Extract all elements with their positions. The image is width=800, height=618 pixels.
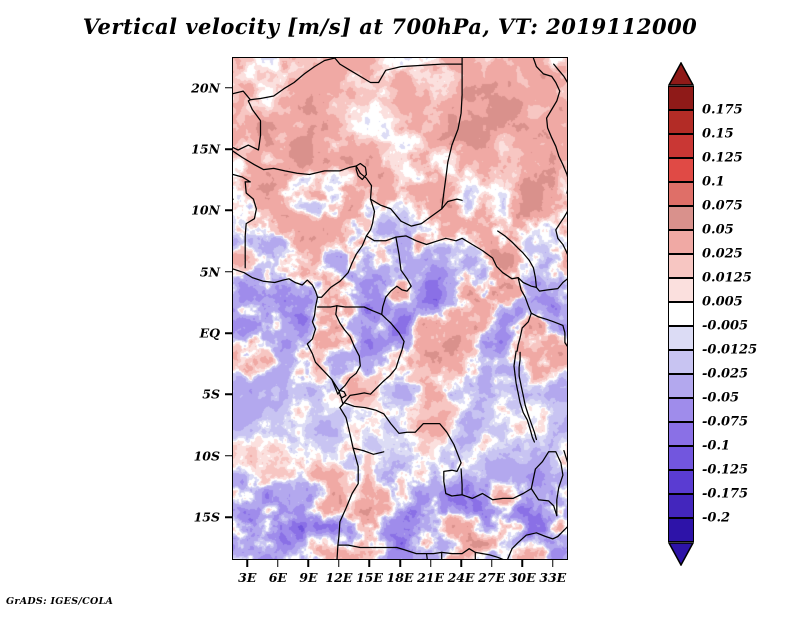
border-path bbox=[517, 278, 531, 352]
longitude-tick-label: 6E bbox=[269, 570, 287, 585]
longitude-tick-mark bbox=[338, 560, 340, 567]
map-plot-area bbox=[232, 57, 568, 560]
latitude-tick-mark bbox=[225, 332, 232, 334]
latitude-tick-label: 10S bbox=[194, 448, 220, 463]
colorbar-swatch bbox=[668, 134, 694, 158]
longitude-tick-mark bbox=[247, 560, 249, 567]
latitude-tick-label: 20N bbox=[191, 80, 220, 95]
border-path bbox=[344, 403, 462, 496]
latitude-tick-mark bbox=[225, 516, 232, 518]
latitude-tick-mark bbox=[225, 271, 232, 273]
border-path bbox=[531, 452, 563, 516]
colorbar-tick-label: -0.075 bbox=[702, 415, 748, 430]
longitude-tick-mark bbox=[491, 560, 493, 567]
border-path bbox=[498, 231, 537, 287]
border-path bbox=[442, 58, 462, 209]
longitude-tick-mark bbox=[430, 560, 432, 567]
border-path bbox=[233, 100, 261, 150]
border-path bbox=[340, 237, 411, 408]
colorbar-tick-label: 0.1 bbox=[702, 175, 725, 190]
colorbar-tick-label: 0.025 bbox=[702, 247, 743, 262]
longitude-tick-mark bbox=[369, 560, 371, 567]
border-path bbox=[233, 269, 358, 560]
latitude-tick-mark bbox=[225, 148, 232, 150]
colorbar-swatch bbox=[668, 182, 694, 206]
colorbar-swatch bbox=[668, 350, 694, 374]
latitude-tick-label: 5S bbox=[202, 387, 220, 402]
colorbar-swatch bbox=[668, 326, 694, 350]
longitude-tick-label: 24E bbox=[448, 570, 475, 585]
longitude-tick-label: 12E bbox=[325, 570, 352, 585]
colorbar-swatch bbox=[668, 86, 694, 110]
colorbar-swatch bbox=[668, 230, 694, 254]
latitude-tick-mark bbox=[225, 394, 232, 396]
border-path bbox=[335, 58, 462, 83]
border-path bbox=[514, 351, 516, 374]
colorbar-tick-label: 0.15 bbox=[702, 127, 734, 142]
border-path bbox=[356, 164, 366, 180]
border-path bbox=[564, 451, 568, 500]
longitude-tick-mark bbox=[552, 560, 554, 567]
colorbar-tick-label: 0.175 bbox=[702, 103, 743, 118]
latitude-tick-label: 15S bbox=[194, 510, 220, 525]
colorbar-tick-label: -0.175 bbox=[702, 487, 748, 502]
latitude-tick-label: 10N bbox=[191, 203, 220, 218]
border-path bbox=[233, 58, 335, 100]
latitude-tick-mark bbox=[225, 210, 232, 212]
colorbar-swatch bbox=[668, 494, 694, 518]
colorbar-swatch bbox=[668, 470, 694, 494]
colorbar-tick-label: -0.025 bbox=[702, 367, 748, 382]
longitude-tick-label: 9E bbox=[299, 570, 317, 585]
border-path bbox=[318, 306, 382, 315]
longitude-tick-label: 33E bbox=[539, 570, 566, 585]
latitude-axis: 20N15N10N5NEQ5S10S15S bbox=[0, 57, 232, 560]
colorbar-tick-label: -0.1 bbox=[702, 439, 730, 454]
footer-attribution: GrADS: IGES/COLA bbox=[6, 596, 113, 607]
longitude-tick-mark bbox=[277, 560, 279, 567]
border-path bbox=[318, 173, 375, 297]
colorbar-tick-label: -0.0125 bbox=[702, 343, 757, 358]
border-path bbox=[245, 182, 256, 268]
border-path bbox=[462, 489, 557, 516]
border-path bbox=[507, 530, 564, 560]
colorbar: 0.1750.150.1250.10.0750.050.0250.01250.0… bbox=[668, 62, 788, 562]
colorbar-swatch bbox=[668, 278, 694, 302]
border-path bbox=[536, 278, 568, 292]
colorbar-top-arrow bbox=[668, 62, 694, 86]
colorbar-swatch bbox=[668, 374, 694, 398]
border-path bbox=[531, 313, 568, 349]
colorbar-swatch bbox=[668, 110, 694, 134]
colorbar-tick-label: 0.125 bbox=[702, 151, 743, 166]
border-path bbox=[353, 448, 384, 454]
colorbar-swatch bbox=[668, 518, 694, 542]
colorbar-tick-label: -0.2 bbox=[702, 511, 730, 526]
border-path bbox=[233, 175, 250, 182]
colorbar-tick-label: 0.0125 bbox=[702, 271, 752, 286]
colorbar-tick-label: -0.125 bbox=[702, 463, 748, 478]
colorbar-swatch bbox=[668, 302, 694, 326]
colorbar-tick-label: 0.005 bbox=[702, 295, 743, 310]
border-path bbox=[332, 306, 361, 394]
colorbar-tick-label: 0.075 bbox=[702, 199, 743, 214]
longitude-tick-label: 18E bbox=[387, 570, 414, 585]
longitude-tick-mark bbox=[399, 560, 401, 567]
border-path bbox=[340, 391, 346, 398]
longitude-tick-mark bbox=[460, 560, 462, 567]
border-path bbox=[515, 375, 534, 443]
colorbar-tick-label: -0.05 bbox=[702, 391, 739, 406]
latitude-tick-mark bbox=[225, 87, 232, 89]
latitude-tick-label: 5N bbox=[200, 264, 220, 279]
colorbar-swatch bbox=[668, 446, 694, 470]
colorbar-tick-label: 0.05 bbox=[702, 223, 734, 238]
latitude-tick-mark bbox=[225, 455, 232, 457]
colorbar-swatch bbox=[668, 158, 694, 182]
latitude-tick-label: 15N bbox=[191, 142, 220, 157]
colorbar-bottom-arrow bbox=[668, 542, 694, 566]
border-path bbox=[556, 183, 568, 258]
longitude-tick-label: 15E bbox=[356, 570, 383, 585]
border-path bbox=[233, 151, 360, 174]
border-path bbox=[519, 352, 520, 375]
border-path bbox=[338, 545, 507, 560]
latitude-tick-label: EQ bbox=[200, 326, 220, 341]
longitude-axis: 3E6E9E12E15E18E21E24E27E30E33E bbox=[232, 560, 568, 600]
longitude-tick-mark bbox=[521, 560, 523, 567]
page-title: Vertical velocity [m/s] at 700hPa, VT: 2… bbox=[0, 14, 780, 39]
border-path bbox=[564, 500, 568, 531]
colorbar-tick-label: -0.005 bbox=[702, 319, 748, 334]
colorbar-swatch bbox=[668, 398, 694, 422]
colorbar-swatch bbox=[668, 254, 694, 278]
longitude-tick-label: 27E bbox=[478, 570, 505, 585]
border-path bbox=[371, 199, 463, 226]
country-borders-overlay bbox=[233, 58, 568, 560]
longitude-tick-mark bbox=[308, 560, 310, 567]
border-path bbox=[533, 58, 568, 183]
colorbar-swatch bbox=[668, 206, 694, 230]
longitude-tick-label: 30E bbox=[509, 570, 536, 585]
longitude-tick-label: 3E bbox=[238, 570, 256, 585]
colorbar-swatch bbox=[668, 422, 694, 446]
longitude-tick-label: 21E bbox=[417, 570, 444, 585]
border-path bbox=[366, 236, 536, 288]
